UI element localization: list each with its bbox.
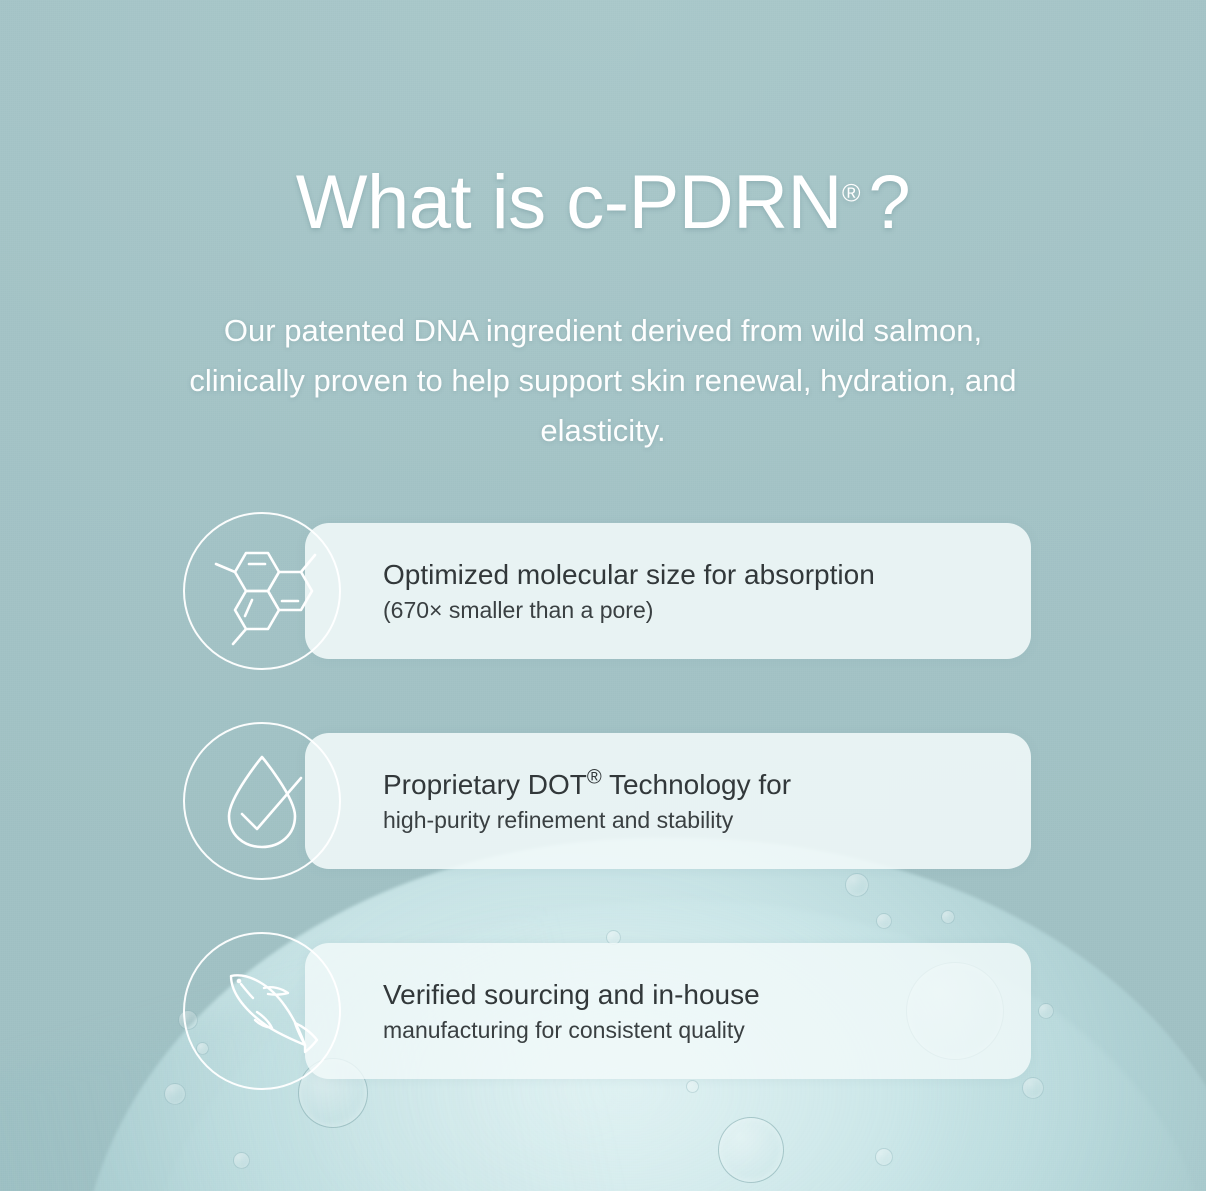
- feature-list: Optimized molecular size for absorption …: [0, 0, 1206, 1191]
- feature-item-molecular-size[interactable]: Optimized molecular size for absorption …: [183, 512, 1031, 670]
- registered-mark: ®: [587, 766, 602, 788]
- promo-canvas: What is c-PDRN®? Our patented DNA ingred…: [0, 0, 1206, 1191]
- feature-headline-post: Technology for: [602, 769, 791, 800]
- feature-subline: manufacturing for consistent quality: [383, 1014, 760, 1047]
- feature-subline: (670× smaller than a pore): [383, 594, 875, 627]
- feature-headline: Verified sourcing and in-house: [383, 976, 760, 1014]
- feature-text: Verified sourcing and in-house manufactu…: [383, 932, 760, 1090]
- molecule-icon: [183, 512, 341, 670]
- droplet-check-icon: [183, 722, 341, 880]
- feature-subline: high-purity refinement and stability: [383, 804, 791, 837]
- feature-headline-pre: Proprietary DOT: [383, 769, 587, 800]
- feature-text: Proprietary DOT® Technology for high-pur…: [383, 722, 791, 880]
- feature-headline: Optimized molecular size for absorption: [383, 556, 875, 594]
- feature-text: Optimized molecular size for absorption …: [383, 512, 875, 670]
- feature-item-verified-sourcing[interactable]: Verified sourcing and in-house manufactu…: [183, 932, 1031, 1090]
- feature-headline: Proprietary DOT® Technology for: [383, 766, 791, 804]
- salmon-fish-icon: [183, 932, 341, 1090]
- feature-item-dot-technology[interactable]: Proprietary DOT® Technology for high-pur…: [183, 722, 1031, 880]
